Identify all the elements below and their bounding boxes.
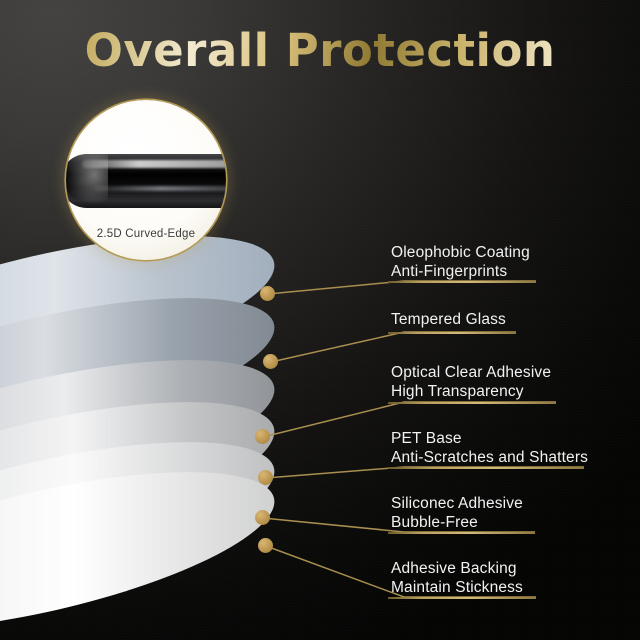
callout-dot-tempered-glass: [263, 354, 278, 369]
glass-highlight-bottom: [94, 186, 226, 191]
callout-dot-pet-base: [258, 470, 273, 485]
label-optical-clear-adhesive: Optical Clear Adhesive High Transparency: [391, 363, 551, 401]
label-subtitle: High Transparency: [391, 382, 551, 401]
underline-optical-clear-adhesive: [388, 402, 556, 404]
label-subtitle: Anti-Scratches and Shatters: [391, 448, 588, 467]
label-tempered-glass: Tempered Glass: [391, 310, 506, 329]
label-subtitle: Bubble-Free: [391, 513, 523, 532]
layer-stack-illustration: [0, 255, 330, 615]
callout-dot-oleophobic-coating: [260, 286, 275, 301]
underline-oleophobic-coating: [388, 281, 536, 283]
label-title: Tempered Glass: [391, 311, 506, 328]
product-infographic: 2.5D Curved-Edge Overall Protection Oleo…: [0, 0, 640, 640]
callout-dot-optical-clear-adhesive: [255, 429, 270, 444]
underline-siliconec-adhesive: [388, 532, 535, 534]
label-oleophobic-coating: Oleophobic Coating Anti-Fingerprints: [391, 243, 530, 281]
label-subtitle: Maintain Stickness: [391, 578, 523, 597]
label-title: Siliconec Adhesive: [391, 495, 523, 512]
label-pet-base: PET Base Anti-Scratches and Shatters: [391, 429, 588, 467]
callout-dot-siliconec-adhesive: [255, 510, 270, 525]
callout-dot-adhesive-backing: [258, 538, 273, 553]
label-title: PET Base: [391, 430, 462, 447]
label-title: Optical Clear Adhesive: [391, 364, 551, 381]
label-adhesive-backing: Adhesive Backing Maintain Stickness: [391, 559, 523, 597]
page-title: Overall Protection: [0, 24, 640, 77]
underline-adhesive-backing: [388, 597, 536, 599]
underline-tempered-glass: [388, 332, 516, 334]
label-siliconec-adhesive: Siliconec Adhesive Bubble-Free: [391, 494, 523, 532]
label-subtitle: Anti-Fingerprints: [391, 262, 530, 281]
magnifier-caption: 2.5D Curved-Edge: [66, 228, 226, 240]
label-title: Adhesive Backing: [391, 560, 517, 577]
underline-pet-base: [388, 467, 584, 469]
label-title: Oleophobic Coating: [391, 244, 530, 261]
glass-curved-edge: [66, 150, 108, 212]
